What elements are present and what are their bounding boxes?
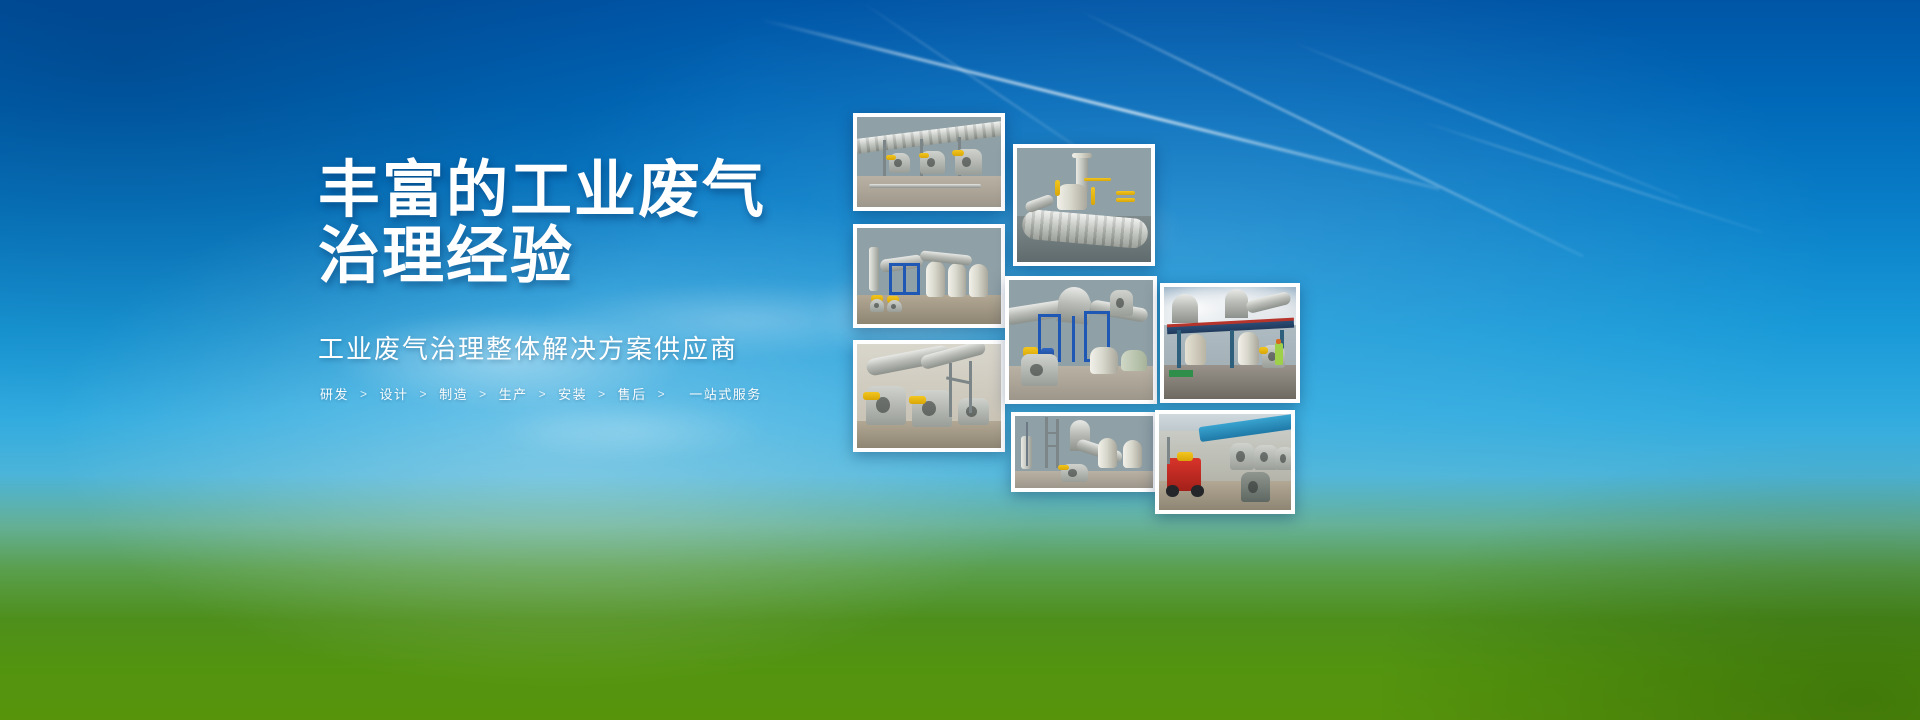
chevron-right-icon: > xyxy=(411,387,438,401)
process-step-3: 制造 xyxy=(437,384,470,403)
photo-rto-plant-stack[interactable] xyxy=(1013,144,1155,266)
process-step-4: 生产 xyxy=(497,384,530,403)
page-title: 丰富的工业废气 治理经验 xyxy=(318,158,838,290)
hero-subtitle: 工业废气治理整体解决方案供应商 xyxy=(318,332,838,366)
photo-centrifugal-fans[interactable] xyxy=(853,340,1005,452)
chevron-right-icon: > xyxy=(649,387,676,401)
photo-blue-frame-ducts[interactable] xyxy=(1005,276,1157,404)
process-step-5: 安装 xyxy=(556,384,589,403)
photo-scrubber-towers[interactable] xyxy=(853,224,1005,328)
photo-forklift-yard[interactable] xyxy=(1155,410,1295,514)
process-step-6: 售后 xyxy=(616,384,649,403)
chevron-right-icon: > xyxy=(589,387,616,401)
chevron-right-icon: > xyxy=(351,387,378,401)
headline-line-1: 丰富的工业废气 xyxy=(318,156,766,225)
photo-site-canopy-worker[interactable] xyxy=(1160,283,1300,403)
process-step-1: 研发 xyxy=(318,384,351,403)
hero-banner: 丰富的工业废气 治理经验 工业废气治理整体解决方案供应商 研发 > 设计 > 制… xyxy=(0,0,1920,720)
chevron-right-icon: > xyxy=(530,387,557,401)
process-step-2: 设计 xyxy=(378,384,411,403)
photo-tall-scrubber-line[interactable] xyxy=(1011,412,1157,492)
photo-ducting-fan-array[interactable] xyxy=(853,113,1005,211)
hero-copy: 丰富的工业废气 治理经验 工业废气治理整体解决方案供应商 研发 > 设计 > 制… xyxy=(318,158,838,403)
photo-collage xyxy=(0,0,1920,720)
process-step-final: 一站式服务 xyxy=(687,384,764,403)
process-step-list: 研发 > 设计 > 制造 > 生产 > 安装 > 售后 > 一站式服务 xyxy=(318,384,838,403)
headline-line-2: 治理经验 xyxy=(318,224,838,290)
chevron-right-icon: > xyxy=(470,387,497,401)
